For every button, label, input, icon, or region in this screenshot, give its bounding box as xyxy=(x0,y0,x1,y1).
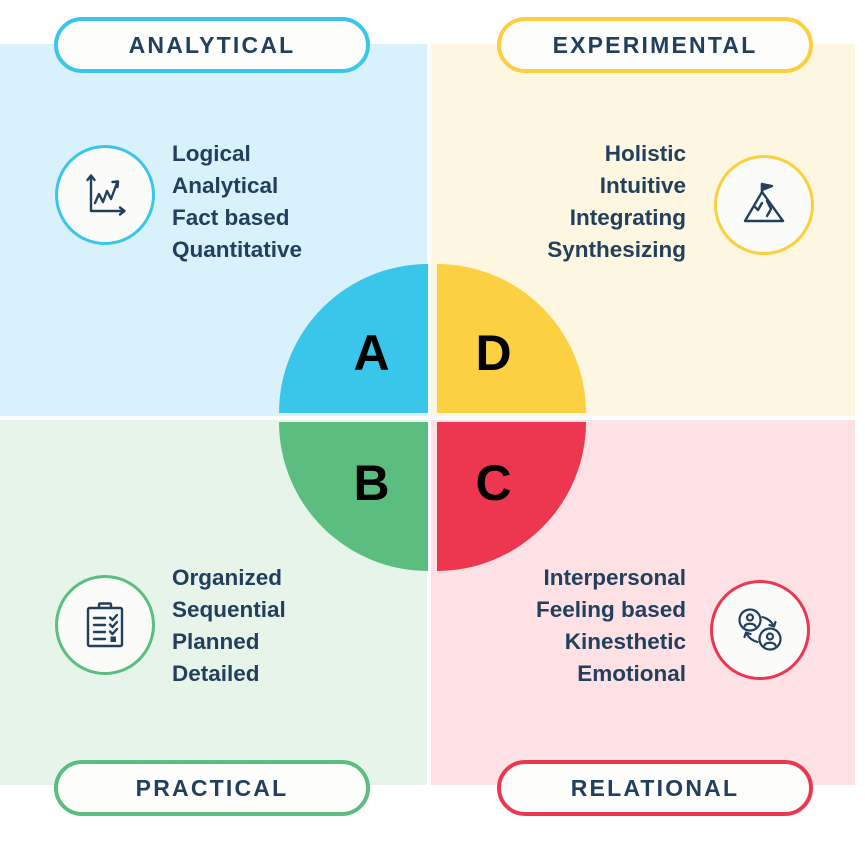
thinking-styles-diagram: A D B C ANALYTICAL EXPERIMENTAL PRACTICA… xyxy=(0,0,865,844)
clipboard-checklist-icon xyxy=(55,575,155,675)
traits-list-practical: Organized Sequential Planned Detailed xyxy=(172,562,286,690)
pie-slice-experimental[interactable]: D xyxy=(437,264,586,413)
quadrant-label-relational[interactable]: RELATIONAL xyxy=(497,760,813,816)
trait-item: Integrating xyxy=(446,202,686,234)
trait-item: Feeling based xyxy=(446,594,686,626)
trait-item: Logical xyxy=(172,138,302,170)
line-chart-icon xyxy=(55,145,155,245)
trait-item: Synthesizing xyxy=(446,234,686,266)
pie-letter-d: D xyxy=(475,328,511,378)
pie-slice-relational[interactable]: C xyxy=(437,422,586,571)
traits-list-relational: Interpersonal Feeling based Kinesthetic … xyxy=(446,562,686,690)
quadrant-label-experimental[interactable]: EXPERIMENTAL xyxy=(497,17,813,73)
trait-item: Holistic xyxy=(446,138,686,170)
trait-item: Quantitative xyxy=(172,234,302,266)
traits-list-analytical: Logical Analytical Fact based Quantitati… xyxy=(172,138,302,266)
pie-letter-a: A xyxy=(353,328,389,378)
trait-item: Emotional xyxy=(446,658,686,690)
trait-item: Fact based xyxy=(172,202,302,234)
trait-item: Detailed xyxy=(172,658,286,690)
mountain-flag-icon xyxy=(714,155,814,255)
trait-item: Intuitive xyxy=(446,170,686,202)
traits-list-experimental: Holistic Intuitive Integrating Synthesiz… xyxy=(446,138,686,266)
trait-item: Interpersonal xyxy=(446,562,686,594)
trait-item: Sequential xyxy=(172,594,286,626)
trait-item: Planned xyxy=(172,626,286,658)
quadrant-label-analytical[interactable]: ANALYTICAL xyxy=(54,17,370,73)
trait-item: Kinesthetic xyxy=(446,626,686,658)
pie-letter-c: C xyxy=(475,458,511,508)
trait-item: Organized xyxy=(172,562,286,594)
quadrant-label-practical[interactable]: PRACTICAL xyxy=(54,760,370,816)
trait-item: Analytical xyxy=(172,170,302,202)
pie-letter-b: B xyxy=(353,458,389,508)
center-pie-chart: A D B C xyxy=(279,264,586,571)
pie-slice-practical[interactable]: B xyxy=(279,422,428,571)
people-exchange-icon xyxy=(710,580,810,680)
pie-slice-analytical[interactable]: A xyxy=(279,264,428,413)
